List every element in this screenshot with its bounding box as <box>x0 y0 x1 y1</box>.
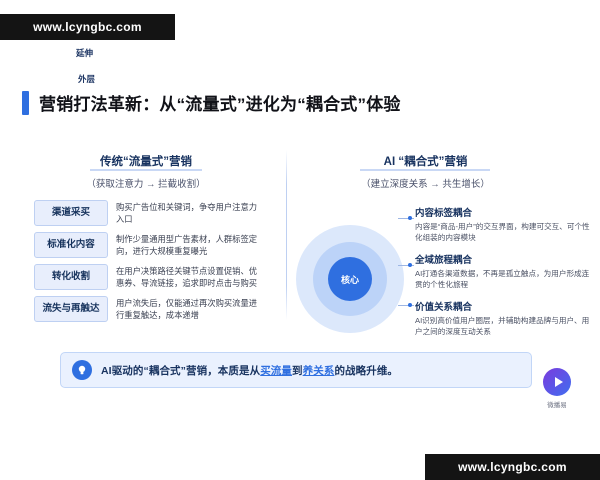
list-item-title: 内容标签耦合 <box>415 205 590 219</box>
circle-core: 核心 <box>328 257 372 301</box>
list-item: 转化收割 在用户决策路径关键节点设置促销、优惠券、导流链接，追求即时点击与购买 <box>34 264 262 290</box>
leader-dot-2 <box>408 263 412 267</box>
list-item: 标准化内容 制作少量通用型广告素材，人群标签定向，进行大规模重复曝光 <box>34 232 262 258</box>
list-item-title: 价值关系耦合 <box>415 299 590 313</box>
title-accent-bar <box>22 91 29 115</box>
list-item-desc: 购买广告位和关键词，争夺用户注意力入口 <box>108 200 262 226</box>
right-column-heading: AI “耦合式”营销 <box>318 153 533 169</box>
watermark-top-text: www.lcyngbc.com <box>33 20 142 34</box>
circle-core-label: 核心 <box>341 273 359 286</box>
summary-text-before: AI驱动的“耦合式”营销，本质是从 <box>101 365 260 377</box>
left-heading-underline <box>90 169 202 171</box>
column-divider <box>286 150 287 320</box>
list-item-desc: 用户流失后，仅能通过再次购买流量进行重复触达，成本递增 <box>108 296 262 322</box>
lightbulb-icon <box>72 360 92 380</box>
play-triangle <box>555 377 563 387</box>
list-item-desc: 在用户决策路径关键节点设置促销、优惠券、导流链接，追求即时点击与购买 <box>108 264 262 290</box>
play-icon <box>543 368 571 396</box>
brand-logo: 微播易 <box>536 368 578 409</box>
list-item-title: 全域旅程耦合 <box>415 252 590 266</box>
summary-callout: AI驱动的“耦合式”营销，本质是从买流量到养关系的战略升维。 <box>60 352 532 388</box>
list-item: 内容标签耦合 内容是“商品-用户”的交互界面，构建可交互、可个性化组装的内容模块 <box>415 205 590 243</box>
right-column-subheading: （建立深度关系 → 共生增长） <box>318 176 533 190</box>
list-item-tag: 转化收割 <box>34 264 108 290</box>
leader-dot-1 <box>408 216 412 220</box>
list-item: 渠道采买 购买广告位和关键词，争夺用户注意力入口 <box>34 200 262 226</box>
right-heading-underline <box>360 169 490 171</box>
traditional-marketing-list: 渠道采买 购买广告位和关键词，争夺用户注意力入口 标准化内容 制作少量通用型广告… <box>34 200 262 328</box>
left-column-subheading: （获取注意力 → 拦截收割） <box>36 176 256 190</box>
watermark-top: www.lcyngbc.com <box>0 14 175 40</box>
left-column-heading: 传统“流量式”营销 <box>36 153 256 169</box>
list-item-tag: 标准化内容 <box>34 232 108 258</box>
concentric-circles-diagram: 核心 <box>296 225 404 333</box>
list-item-tag: 流失与再触达 <box>34 296 108 322</box>
top-bar: www.lcyngbc.com <box>0 0 600 40</box>
summary-text-mid: 到 <box>292 365 303 377</box>
list-item-tag: 渠道采买 <box>34 200 108 226</box>
watermark-bottom-text: www.lcyngbc.com <box>458 460 567 474</box>
list-item-desc: 制作少量通用型广告素材，人群标签定向，进行大规模重复曝光 <box>108 232 262 258</box>
summary-highlight-1: 买流量 <box>260 365 292 377</box>
leader-dot-3 <box>408 303 412 307</box>
list-item-desc: AI识别高价值用户圈层，并辅助构建品牌与用户、用户之间的深度互动关系 <box>415 315 590 337</box>
summary-highlight-2: 养关系 <box>303 365 335 377</box>
list-item-desc: AI打通各渠道数据，不再是孤立触点，为用户形成连贯的个性化旅程 <box>415 268 590 290</box>
list-item: 价值关系耦合 AI识别高价值用户圈层，并辅助构建品牌与用户、用户之间的深度互动关… <box>415 299 590 337</box>
summary-text-after: 的战略升维。 <box>334 365 398 377</box>
list-item-desc: 内容是“商品-用户”的交互界面，构建可交互、可个性化组装的内容模块 <box>415 221 590 243</box>
title-text: 营销打法革新：从“流量式”进化为“耦合式”体验 <box>39 90 401 115</box>
watermark-bottom: www.lcyngbc.com <box>425 454 600 480</box>
list-item: 全域旅程耦合 AI打通各渠道数据，不再是孤立触点，为用户形成连贯的个性化旅程 <box>415 252 590 290</box>
summary-text: AI驱动的“耦合式”营销，本质是从买流量到养关系的战略升维。 <box>101 363 398 378</box>
list-item: 流失与再触达 用户流失后，仅能通过再次购买流量进行重复触达，成本递增 <box>34 296 262 322</box>
circle-outer-label: 外层 <box>78 73 95 85</box>
coupling-marketing-list: 内容标签耦合 内容是“商品-用户”的交互界面，构建可交互、可个性化组装的内容模块… <box>415 205 590 346</box>
circle-middle-label: 延伸 <box>76 47 93 59</box>
brand-logo-label: 微播易 <box>536 399 578 409</box>
slide-root: www.lcyngbc.com 营销打法革新：从“流量式”进化为“耦合式”体验 … <box>0 0 600 480</box>
page-title: 营销打法革新：从“流量式”进化为“耦合式”体验 <box>22 90 401 115</box>
